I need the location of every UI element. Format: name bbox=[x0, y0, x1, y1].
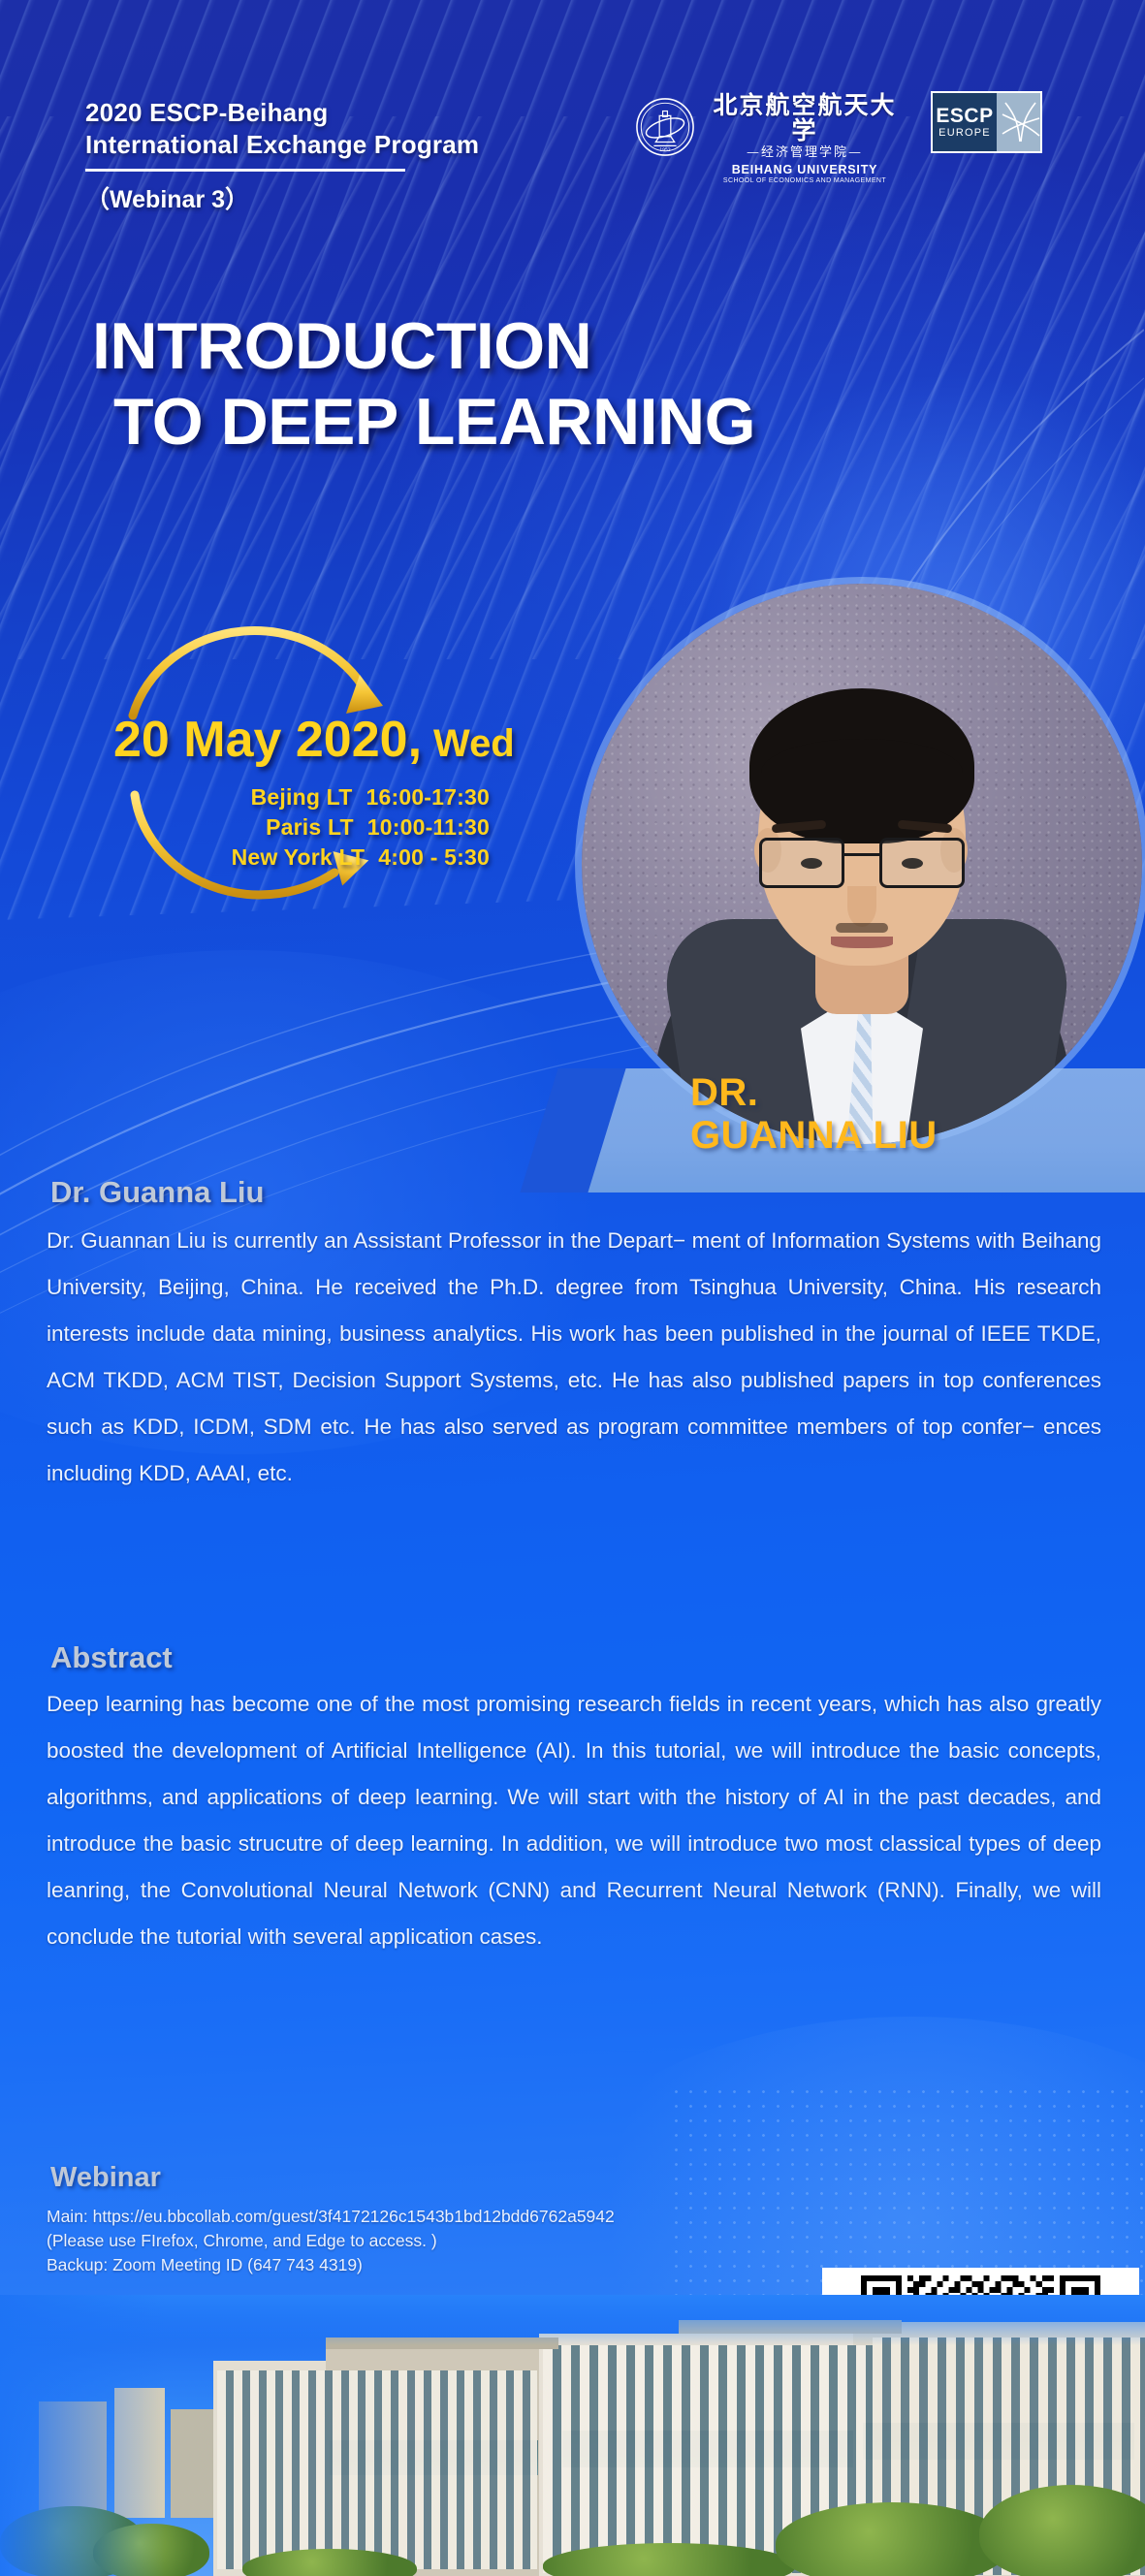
beihang-chinese-name: 北京航空航天大学 bbox=[713, 93, 897, 143]
campus-building-photo bbox=[0, 2295, 1145, 2576]
beihang-seal-icon: 1952 bbox=[635, 97, 695, 157]
bio-section: Dr. Guanna Liu Dr. Guannan Liu is curren… bbox=[47, 1175, 1101, 1497]
webinar-main-link[interactable]: Main: https://eu.bbcollab.com/guest/3f41… bbox=[47, 2205, 1016, 2229]
escp-logo-line2: EUROPE bbox=[938, 127, 991, 140]
escp-logo-line1: ESCP bbox=[936, 106, 993, 127]
abstract-section: Abstract Deep learning has become one of… bbox=[47, 1640, 1101, 1960]
time-range: 10:00-11:30 bbox=[367, 814, 490, 840]
poster-title: INTRODUCTION TO DEEP LEARNING bbox=[92, 308, 1042, 460]
time-row: Bejing LT16:00-17:30 bbox=[102, 782, 490, 812]
webinar-section: Webinar Main: https://eu.bbcollab.com/gu… bbox=[47, 2160, 1016, 2277]
program-title-line1: 2020 ESCP-Beihang bbox=[85, 97, 589, 129]
event-date-text: 20 May 2020, bbox=[113, 712, 422, 768]
webinar-number-label: （Webinar 3） bbox=[85, 180, 589, 215]
time-row: Paris LT10:00-11:30 bbox=[102, 812, 490, 843]
beihang-english-school: SCHOOL OF ECONOMICS AND MANAGEMENT bbox=[713, 176, 897, 185]
speaker-name-badge: DR. GUANNA LIU bbox=[690, 1071, 1117, 1157]
beihang-chinese-school: 经济管理学院 bbox=[761, 145, 848, 160]
speaker-badge-line1: DR. bbox=[690, 1071, 1117, 1114]
title-line-1: INTRODUCTION bbox=[92, 309, 591, 383]
time-range: 4:00 - 5:30 bbox=[378, 844, 490, 870]
webinar-details: Main: https://eu.bbcollab.com/guest/3f41… bbox=[47, 2205, 1016, 2277]
beihang-english-name: BEIHANG UNIVERSITY bbox=[713, 163, 897, 176]
header-divider bbox=[85, 169, 405, 172]
event-date: 20 May 2020,Wed bbox=[113, 713, 515, 771]
time-row: New York LT4:00 - 5:30 bbox=[102, 843, 490, 873]
timezone-label: Bejing LT bbox=[251, 784, 353, 810]
beihang-wordmark: 北京航空航天大学 —经济管理学院— BEIHANG UNIVERSITY SCH… bbox=[713, 93, 897, 185]
bio-paragraph: Dr. Guannan Liu is currently an Assistan… bbox=[47, 1218, 1101, 1497]
timezone-label: Paris LT bbox=[266, 814, 354, 840]
header: 2020 ESCP-Beihang International Exchange… bbox=[0, 0, 1145, 233]
time-range: 16:00-17:30 bbox=[366, 784, 490, 810]
speaker-badge-line2: GUANNA LIU bbox=[690, 1114, 1117, 1157]
program-title-line2: International Exchange Program bbox=[85, 129, 589, 161]
escp-europe-logo: ESCP EUROPE bbox=[931, 91, 1042, 153]
event-datetime-block: 20 May 2020,Wed Bejing LT16:00-17:30 Par… bbox=[92, 591, 616, 921]
abstract-heading: Abstract bbox=[50, 1640, 1101, 1675]
event-times-list: Bejing LT16:00-17:30 Paris LT10:00-11:30… bbox=[102, 782, 490, 873]
event-weekday: Wed bbox=[433, 722, 515, 765]
poster-canvas: 2020 ESCP-Beihang International Exchange… bbox=[0, 0, 1145, 2576]
webinar-heading: Webinar bbox=[50, 2160, 1016, 2195]
bio-heading: Dr. Guanna Liu bbox=[50, 1175, 1101, 1210]
escp-star-icon bbox=[997, 93, 1040, 151]
escp-logo-text-block: ESCP EUROPE bbox=[933, 93, 997, 151]
title-line-2: TO DEEP LEARNING bbox=[113, 384, 1042, 460]
abstract-paragraph: Deep learning has become one of the most… bbox=[47, 1681, 1101, 1960]
webinar-browser-note: (Please use FIrefox, Chrome, and Edge to… bbox=[47, 2229, 1016, 2253]
timezone-label: New York LT bbox=[232, 844, 366, 870]
svg-text:1952: 1952 bbox=[659, 147, 670, 153]
speaker-portrait-photo bbox=[582, 584, 1142, 1144]
program-title-block: 2020 ESCP-Beihang International Exchange… bbox=[85, 97, 589, 215]
